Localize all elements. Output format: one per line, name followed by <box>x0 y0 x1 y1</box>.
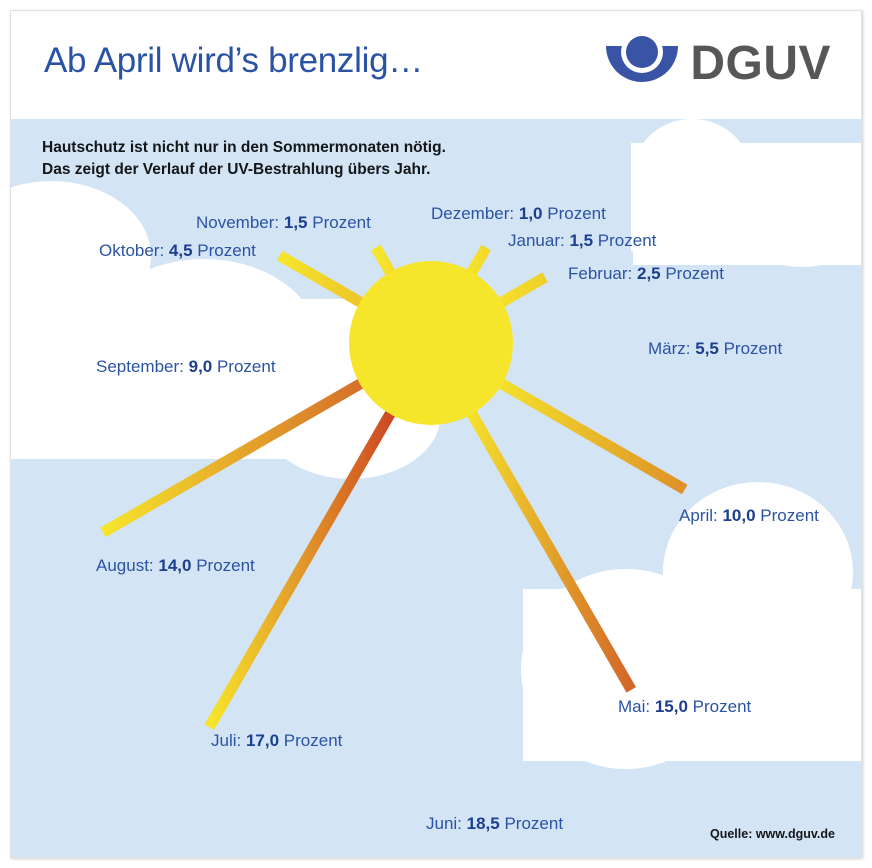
month-value: 10,0 <box>722 506 755 525</box>
month-unit: Prozent <box>661 264 724 283</box>
month-unit: Prozent <box>593 231 656 250</box>
month-value: 14,0 <box>158 556 191 575</box>
page-title: Ab April wird’s brenzlig… <box>44 41 423 81</box>
dguv-bowl-icon <box>606 36 678 92</box>
month-name: September: <box>96 357 189 376</box>
month-label-märz: März: 5,5 Prozent <box>648 339 782 359</box>
month-name: Juli: <box>211 731 246 750</box>
month-unit: Prozent <box>719 339 782 358</box>
logo-wordmark: DGUV <box>690 40 831 88</box>
month-value: 15,0 <box>655 697 688 716</box>
month-label-november: November: 1,5 Prozent <box>196 213 371 233</box>
sun-disc <box>349 261 513 425</box>
month-value: 18,5 <box>467 814 500 833</box>
month-label-dezember: Dezember: 1,0 Prozent <box>431 204 606 224</box>
month-name: Dezember: <box>431 204 519 223</box>
month-label-oktober: Oktober: 4,5 Prozent <box>99 241 256 261</box>
month-name: August: <box>96 556 158 575</box>
month-label-januar: Januar: 1,5 Prozent <box>508 231 656 251</box>
month-name: März: <box>648 339 695 358</box>
month-unit: Prozent <box>308 213 371 232</box>
month-value: 5,5 <box>695 339 719 358</box>
month-name: Mai: <box>618 697 655 716</box>
month-unit: Prozent <box>191 556 254 575</box>
header-bar: Ab April wird’s brenzlig… DGUV <box>11 11 862 119</box>
month-name: November: <box>196 213 284 232</box>
sun-rays <box>11 119 862 858</box>
sky-scene: Hautschutz ist nicht nur in den Sommermo… <box>11 119 862 858</box>
month-unit: Prozent <box>212 357 275 376</box>
month-value: 4,5 <box>169 241 193 260</box>
ray-april <box>486 375 684 490</box>
month-label-juli: Juli: 17,0 Prozent <box>211 731 342 751</box>
infographic-poster: Ab April wird’s brenzlig… DGUV <box>10 10 862 858</box>
month-unit: Prozent <box>193 241 256 260</box>
month-label-september: September: 9,0 Prozent <box>96 357 276 377</box>
month-value: 2,5 <box>637 264 661 283</box>
month-label-august: August: 14,0 Prozent <box>96 556 255 576</box>
month-label-mai: Mai: 15,0 Prozent <box>618 697 751 717</box>
subtitle-line-1: Hautschutz ist nicht nur in den Sommermo… <box>42 137 446 159</box>
month-name: Januar: <box>508 231 569 250</box>
month-label-april: April: 10,0 Prozent <box>679 506 819 526</box>
month-name: Februar: <box>568 264 637 283</box>
subtitle-line-2: Das zeigt der Verlauf der UV-Bestrahlung… <box>42 159 446 181</box>
month-unit: Prozent <box>279 731 342 750</box>
month-name: Oktober: <box>99 241 169 260</box>
month-label-februar: Februar: 2,5 Prozent <box>568 264 724 284</box>
month-unit: Prozent <box>500 814 563 833</box>
month-value: 1,0 <box>519 204 543 223</box>
month-value: 1,5 <box>569 231 593 250</box>
month-unit: Prozent <box>756 506 819 525</box>
dguv-logo: DGUV <box>606 33 831 95</box>
month-name: Juni: <box>426 814 467 833</box>
month-value: 17,0 <box>246 731 279 750</box>
month-label-juni: Juni: 18,5 Prozent <box>426 814 563 834</box>
subtitle: Hautschutz ist nicht nur in den Sommermo… <box>42 137 446 181</box>
month-unit: Prozent <box>688 697 751 716</box>
month-value: 9,0 <box>189 357 213 376</box>
source-note: Quelle: www.dguv.de <box>710 827 835 841</box>
month-name: April: <box>679 506 722 525</box>
month-unit: Prozent <box>543 204 606 223</box>
month-value: 1,5 <box>284 213 308 232</box>
